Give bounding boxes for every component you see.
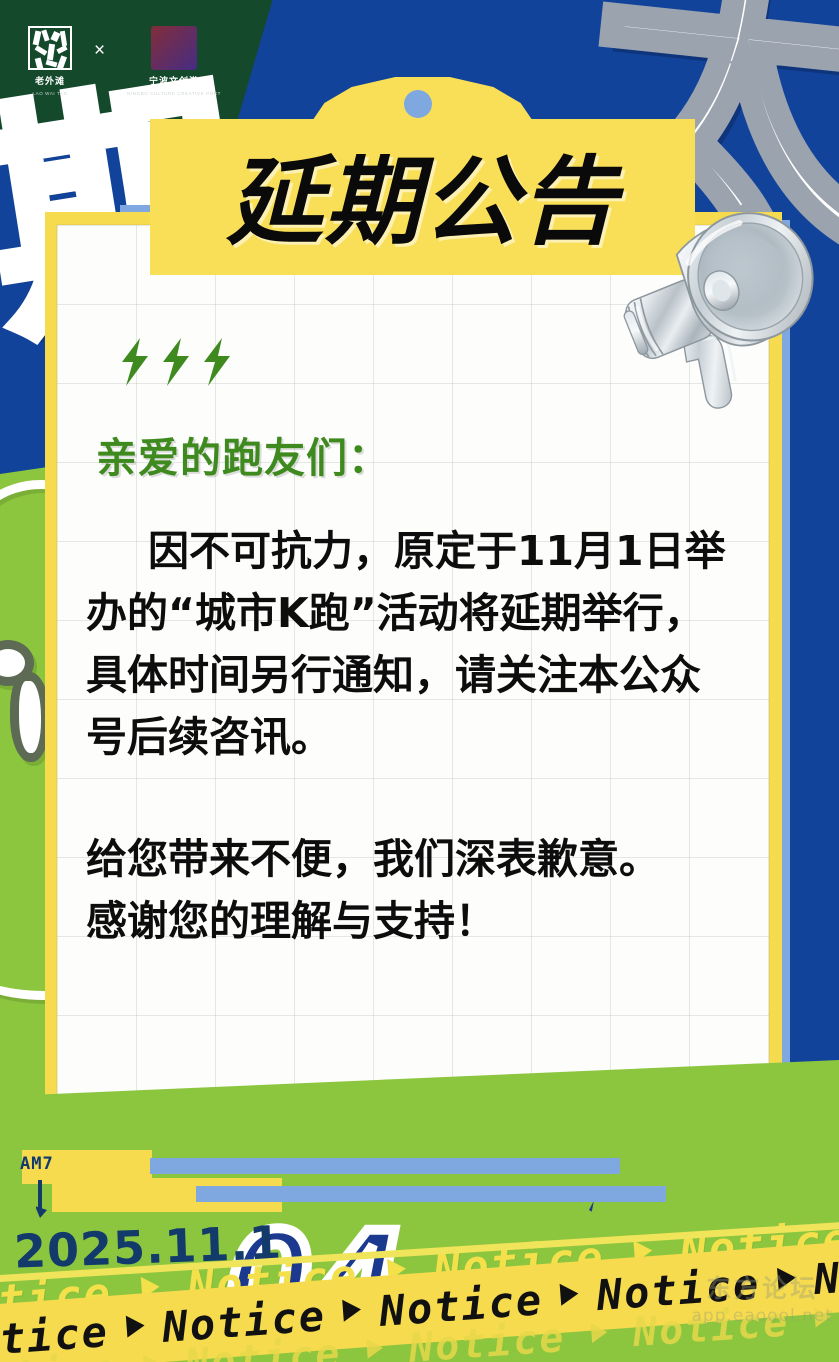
notice-label: Notice: [184, 1331, 343, 1362]
logo-ningbo: 宁波文创港 NINGBO CULTURE CREATIVE PORT: [127, 26, 221, 96]
logo-bar: 老外滩 LAO WAI TAN × 宁波文创港 NINGBO CULTURE C…: [28, 26, 221, 96]
triangle-right-icon: [777, 1267, 797, 1290]
ningbo-culture-port-logo-icon: [151, 26, 197, 70]
lightning-bolt-icon: [202, 338, 232, 386]
notice-label: Notice: [631, 1299, 790, 1356]
time-label: AM7: [20, 1154, 54, 1174]
triangle-right-icon: [560, 1282, 580, 1305]
triangle-right-icon: [126, 1314, 146, 1337]
triangle-right-icon: [814, 1306, 831, 1327]
notice-label: Notice: [0, 1346, 119, 1362]
body-paragraph-1: 因不可抗力，原定于11月1日举办的“城市K跑”活动将延期举行，具体时间另行通知，…: [86, 520, 736, 768]
logo-left-name: 老外滩: [35, 74, 65, 87]
body-paragraph-2-line-1: 给您带来不便，我们深表歉意。: [86, 828, 736, 890]
body-paragraph-2-line-2: 感谢您的理解与支持！: [86, 890, 736, 952]
triangle-right-icon: [366, 1338, 383, 1359]
logo-separator: ×: [94, 40, 105, 62]
notice-label: Notice: [407, 1315, 566, 1362]
shattered-square-logo-icon: [28, 26, 72, 70]
logo-left-subtitle: LAO WAI TAN: [32, 91, 67, 96]
logo-lao-wai-tan: 老外滩 LAO WAI TAN: [28, 26, 72, 96]
megaphone-icon: [585, 175, 839, 430]
accent-bar-bottom-2: [196, 1186, 666, 1202]
greeting-text: 亲爱的跑友们：: [96, 424, 390, 484]
logo-right-subtitle: NINGBO CULTURE CREATIVE PORT: [127, 91, 221, 96]
lightning-bolt-group: [120, 338, 232, 386]
accent-bar-bottom-1: [150, 1158, 620, 1174]
lightning-bolt-icon: [161, 338, 191, 386]
triangle-right-icon: [142, 1353, 159, 1362]
logo-right-name: 宁波文创港: [149, 74, 199, 87]
poster-root: 期 太 老外滩 LAO WAI TAN × 宁波文创港: [0, 0, 839, 1362]
triangle-right-icon: [343, 1298, 363, 1321]
lightning-bolt-icon: [120, 338, 150, 386]
runner-doodle-body: [10, 672, 50, 762]
triangle-right-icon: [590, 1322, 607, 1343]
tag-hole-icon: [404, 90, 432, 118]
arrow-down-icon: [36, 1180, 58, 1224]
body-paragraph-2: 给您带来不便，我们深表歉意。 感谢您的理解与支持！: [86, 828, 736, 952]
